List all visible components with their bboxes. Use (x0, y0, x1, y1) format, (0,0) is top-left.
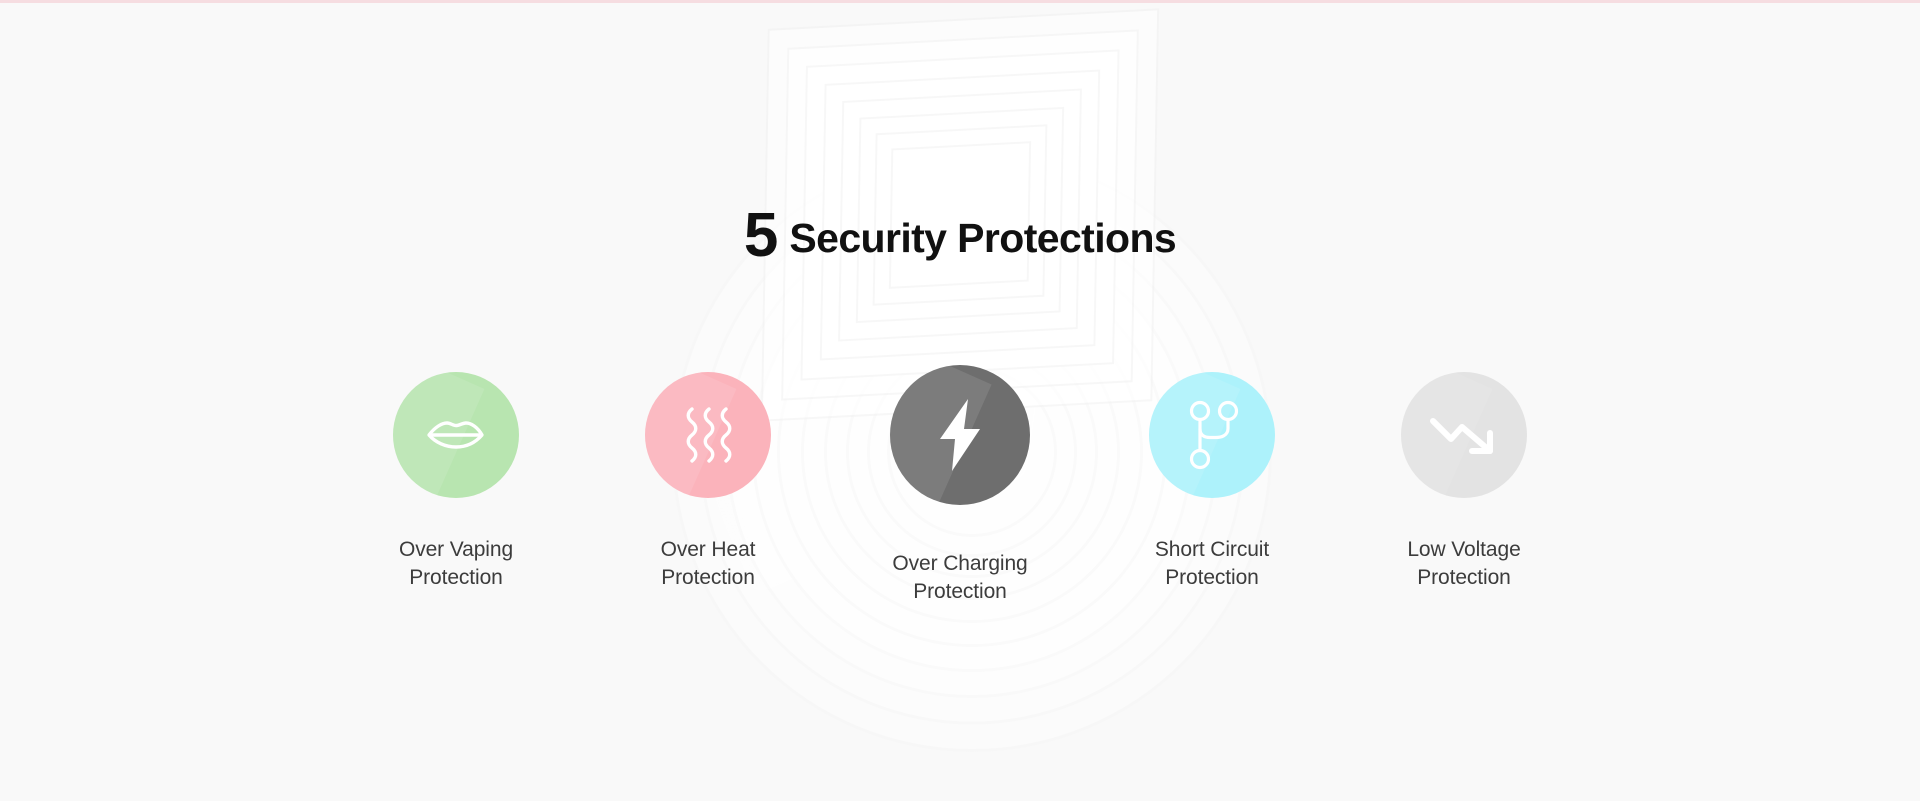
protection-icon-badge (1401, 372, 1527, 498)
top-accent-rule (0, 0, 1920, 3)
protection-item-over-charging[interactable]: Over Charging Protection (862, 365, 1058, 605)
protection-icon-badge (1149, 372, 1275, 498)
protection-label: Over Charging Protection (892, 550, 1027, 605)
protection-item-low-voltage[interactable]: Low Voltage Protection (1366, 372, 1562, 591)
protection-icon-badge (890, 365, 1030, 505)
circuit-branch-icon (1184, 399, 1240, 471)
page-title-text: Security Protections (789, 215, 1176, 261)
protection-count: 5 (744, 201, 777, 270)
main-content: 5Security Protections Over Vaping Protec… (0, 0, 1920, 801)
protection-list: Over Vaping Protection Over Heat Protect… (358, 372, 1562, 605)
protection-label: Over Heat Protection (661, 536, 756, 591)
protection-label: Low Voltage Protection (1407, 536, 1520, 591)
protection-icon-badge (645, 372, 771, 498)
trend-down-arrow-icon (1428, 411, 1500, 459)
lightning-bolt-icon (931, 397, 989, 473)
protection-label: Over Vaping Protection (399, 536, 513, 591)
protection-label: Short Circuit Protection (1155, 536, 1269, 591)
lips-icon (423, 402, 489, 468)
protection-icon-badge (393, 372, 519, 498)
protection-item-over-vaping[interactable]: Over Vaping Protection (358, 372, 554, 591)
protection-item-short-circuit[interactable]: Short Circuit Protection (1114, 372, 1310, 591)
protection-item-over-heat[interactable]: Over Heat Protection (610, 372, 806, 591)
page-title: 5Security Protections (0, 205, 1920, 267)
heat-waves-icon (679, 403, 737, 467)
